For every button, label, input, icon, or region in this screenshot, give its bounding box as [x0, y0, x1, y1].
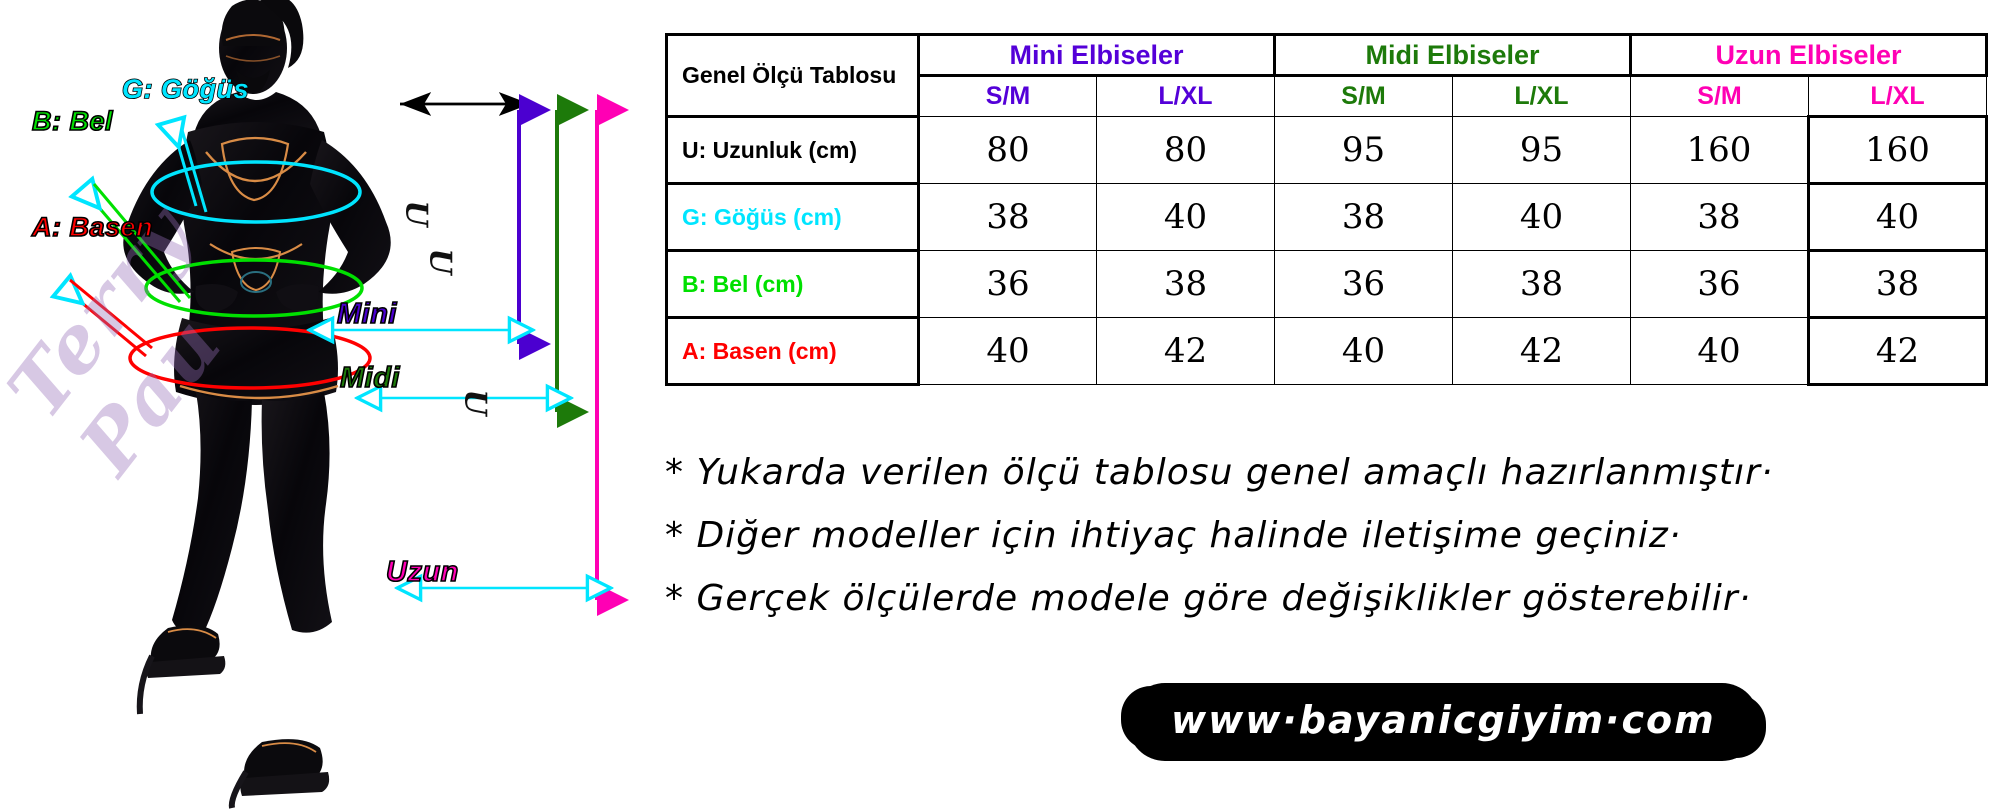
- cell-value: 38: [1097, 251, 1275, 318]
- cell-value: 36: [919, 251, 1097, 318]
- u-mark-mini: U: [399, 200, 434, 226]
- size-header-midi-lxl: L/XL: [1453, 76, 1631, 117]
- row-label-gogus: G: Göğüs (cm): [667, 184, 919, 251]
- table-row: U: Uzunluk (cm) 80 80 95 95 160 160: [667, 117, 1987, 184]
- table-header-group-row: Genel Ölçü Tablosu Mini Elbiseler Midi E…: [667, 35, 1987, 76]
- cell-value: 95: [1275, 117, 1453, 184]
- cell-value: 42: [1097, 318, 1275, 385]
- label-basen: A: Basen: [32, 212, 153, 243]
- size-chart-panel: Genel Ölçü Tablosu Mini Elbiseler Midi E…: [645, 0, 2010, 811]
- cell-value: 95: [1453, 117, 1631, 184]
- label-mini: Mini: [337, 298, 397, 331]
- cell-value: 40: [1809, 184, 1987, 251]
- cell-value: 42: [1453, 318, 1631, 385]
- cell-value: 38: [1809, 251, 1987, 318]
- website-url-banner[interactable]: www·bayanicgiyim·com: [1135, 690, 1752, 754]
- cell-value: 38: [919, 184, 1097, 251]
- row-label-uzunluk: U: Uzunluk (cm): [667, 117, 919, 184]
- illustration-panel: Terry Pau G: Göğüs B: Bel A: Basen Mini …: [0, 0, 640, 811]
- corner-title: Genel Ölçü Tablosu: [667, 35, 919, 117]
- size-header-mini-sm: S/M: [919, 76, 1097, 117]
- table-row: B: Bel (cm) 36 38 36 38 36 38: [667, 251, 1987, 318]
- cell-value: 40: [1275, 318, 1453, 385]
- size-table: Genel Ölçü Tablosu Mini Elbiseler Midi E…: [665, 33, 1988, 386]
- group-header-mini: Mini Elbiseler: [919, 35, 1275, 76]
- cell-value: 40: [1097, 184, 1275, 251]
- label-gogus: G: Göğüs: [122, 74, 249, 105]
- size-header-midi-sm: S/M: [1275, 76, 1453, 117]
- cell-value: 38: [1631, 184, 1809, 251]
- row-label-bel: B: Bel (cm): [667, 251, 919, 318]
- group-header-midi: Midi Elbiseler: [1275, 35, 1631, 76]
- u-mark-midi: U: [423, 248, 458, 274]
- cell-value: 80: [1097, 117, 1275, 184]
- label-midi: Midi: [340, 362, 400, 395]
- cell-value: 38: [1453, 251, 1631, 318]
- cell-value: 160: [1809, 117, 1987, 184]
- row-label-basen: A: Basen (cm): [667, 318, 919, 385]
- cell-value: 160: [1631, 117, 1809, 184]
- u-mark-uzun: U: [458, 389, 493, 415]
- cell-value: 80: [919, 117, 1097, 184]
- cell-value: 40: [1453, 184, 1631, 251]
- cell-value: 38: [1275, 184, 1453, 251]
- group-header-uzun: Uzun Elbiseler: [1631, 35, 1987, 76]
- label-bel: B: Bel: [32, 106, 113, 137]
- table-row: G: Göğüs (cm) 38 40 38 40 38 40: [667, 184, 1987, 251]
- cell-value: 36: [1275, 251, 1453, 318]
- note-line-3: * Gerçek ölçülerde modele göre değişikli…: [665, 578, 1751, 619]
- size-header-mini-lxl: L/XL: [1097, 76, 1275, 117]
- note-line-1: * Yukarda verilen ölçü tablosu genel ama…: [665, 452, 1773, 493]
- cell-value: 40: [1631, 318, 1809, 385]
- label-uzun: Uzun: [386, 556, 459, 589]
- size-header-uzun-sm: S/M: [1631, 76, 1809, 117]
- cell-value: 42: [1809, 318, 1987, 385]
- size-header-uzun-lxl: L/XL: [1809, 76, 1987, 117]
- cell-value: 36: [1631, 251, 1809, 318]
- table-row: A: Basen (cm) 40 42 40 42 40 42: [667, 318, 1987, 385]
- note-line-2: * Diğer modeller için ihtiyaç halinde il…: [665, 515, 1681, 556]
- cell-value: 40: [919, 318, 1097, 385]
- model-silhouette: [123, 0, 390, 808]
